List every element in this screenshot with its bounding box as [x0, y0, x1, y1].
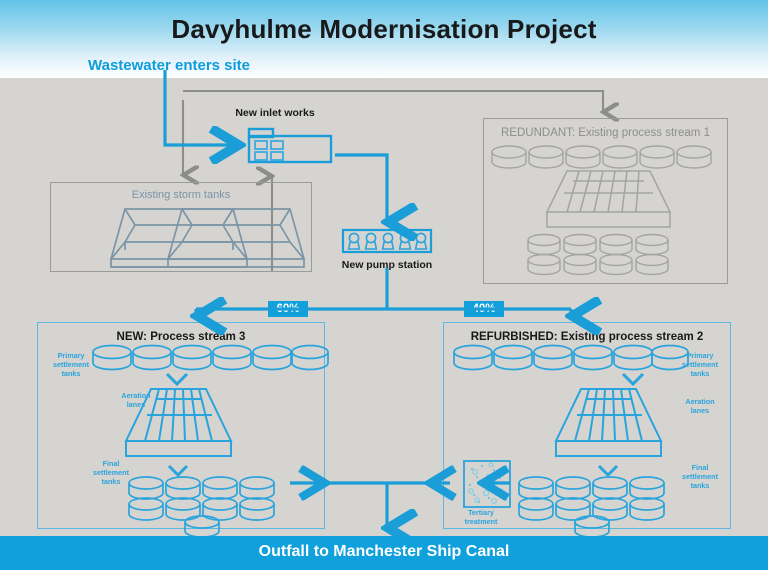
redundant-stream-graphics — [484, 119, 729, 285]
primary-tank-row — [454, 346, 688, 370]
outfall-band: Outfall to Manchester Ship Canal — [0, 536, 768, 570]
redundant-process-stream-1-panel: REDUNDANT: Existing process stream 1 — [483, 118, 728, 284]
inlet-works-icon — [247, 125, 333, 165]
split-badge-right: 40% — [464, 301, 504, 317]
new-process-stream-3-panel: NEW: Process stream 3 Primary settlement… — [37, 322, 325, 529]
pump-station-icon — [341, 228, 433, 254]
new-inlet-works-label: New inlet works — [190, 107, 360, 119]
refurbished-process-stream-2-panel: REFURBISHED: Existing process stream 2 P… — [443, 322, 731, 529]
page-title: Davyhulme Modernisation Project — [0, 14, 768, 45]
outfall-label: Outfall to Manchester Ship Canal — [0, 543, 768, 561]
wastewater-inlet-label: Wastewater enters site — [88, 57, 250, 74]
primary-tank-row — [93, 346, 328, 370]
storm-tank-icon — [51, 183, 313, 273]
refurbished-stream-graphics — [444, 323, 732, 530]
tertiary-treatment-icon — [464, 461, 510, 507]
new-pump-station-node[interactable] — [341, 228, 433, 254]
new-inlet-works-node[interactable] — [247, 125, 333, 165]
existing-storm-tanks-panel: Existing storm tanks — [50, 182, 312, 272]
final-tank-group — [519, 477, 664, 537]
final-tank-group — [129, 477, 274, 537]
new-stream-graphics — [38, 323, 326, 530]
new-pump-station-label: New pump station — [322, 259, 452, 271]
split-badge-left: 60% — [268, 301, 308, 317]
diagram-canvas: Davyhulme Modernisation Project Wastewat… — [0, 0, 768, 570]
